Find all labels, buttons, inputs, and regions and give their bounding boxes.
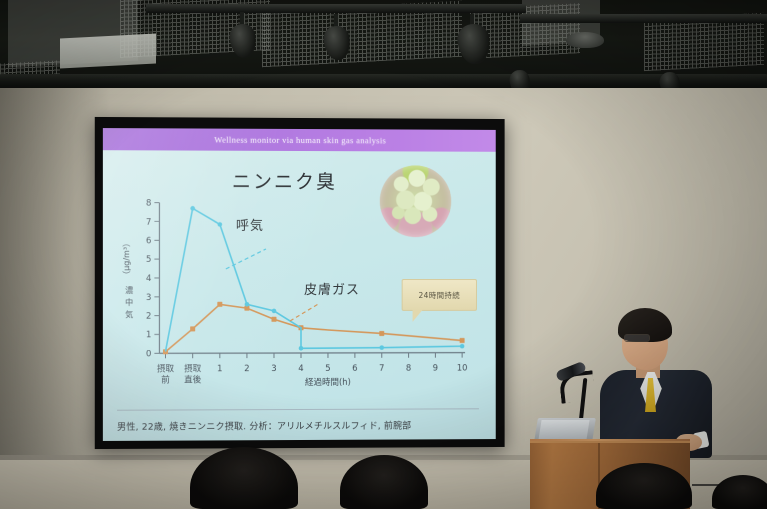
slide-title: ニンニク臭 xyxy=(232,167,337,194)
caption-divider xyxy=(117,408,479,410)
slide-body: ニンニク臭 xyxy=(103,150,496,441)
odor-concentration-chart: 0 1 2 3 4 5 6 7 8 xyxy=(113,194,488,400)
svg-text:前: 前 xyxy=(161,374,170,385)
svg-text:6: 6 xyxy=(352,364,357,374)
svg-text:濃: 濃 xyxy=(125,285,133,295)
slide-caption: 男性, 22歳, 焼きニンニク摂取. 分析：アリルメチルスルフィド, 前腕部 xyxy=(117,418,483,433)
svg-text:10: 10 xyxy=(457,364,468,374)
duration-callout-text: 24時間持続 xyxy=(419,289,461,300)
projection-screen: Wellness monitor via human skin gas anal… xyxy=(95,117,505,449)
svg-text:（μg/m³）: （μg/m³） xyxy=(122,239,131,279)
presentation-photo-scene: Wellness monitor via human skin gas anal… xyxy=(0,0,767,509)
svg-text:摂取: 摂取 xyxy=(184,363,202,374)
svg-text:9: 9 xyxy=(433,364,438,374)
svg-text:8: 8 xyxy=(406,364,411,374)
svg-text:2: 2 xyxy=(244,364,249,374)
leader-line-skin xyxy=(290,303,320,321)
svg-text:1: 1 xyxy=(146,330,151,340)
svg-text:0: 0 xyxy=(146,349,151,359)
laptop-screen xyxy=(538,420,589,440)
svg-text:摂取: 摂取 xyxy=(157,363,175,374)
svg-text:1: 1 xyxy=(217,364,222,374)
svg-text:5: 5 xyxy=(325,364,330,374)
duration-callout: 24時間持続 xyxy=(402,279,477,311)
svg-text:3: 3 xyxy=(146,293,151,303)
slide-banner: Wellness monitor via human skin gas anal… xyxy=(103,128,496,152)
ceiling xyxy=(0,0,767,96)
wall-shadow xyxy=(0,88,110,509)
presenter xyxy=(596,306,716,456)
svg-text:中: 中 xyxy=(125,297,133,307)
series-label-breath: 呼気 xyxy=(236,215,264,234)
svg-text:8: 8 xyxy=(146,199,151,209)
slide-banner-title: Wellness monitor via human skin gas anal… xyxy=(214,135,386,146)
svg-text:4: 4 xyxy=(298,364,303,374)
projected-slide: Wellness monitor via human skin gas anal… xyxy=(103,128,496,441)
svg-text:7: 7 xyxy=(146,218,151,228)
svg-text:直後: 直後 xyxy=(184,374,202,385)
svg-text:4: 4 xyxy=(146,274,151,284)
svg-text:3: 3 xyxy=(271,364,276,374)
svg-text:5: 5 xyxy=(146,255,151,265)
svg-text:6: 6 xyxy=(146,236,151,246)
svg-text:7: 7 xyxy=(379,364,384,374)
presenter-glasses xyxy=(624,334,650,342)
smoke-detector-icon xyxy=(566,32,604,48)
svg-text:経過時間(h): 経過時間(h) xyxy=(305,377,351,388)
series-label-skin: 皮膚ガス xyxy=(304,279,360,298)
svg-text:2: 2 xyxy=(146,312,151,322)
svg-text:気: 気 xyxy=(125,309,133,319)
